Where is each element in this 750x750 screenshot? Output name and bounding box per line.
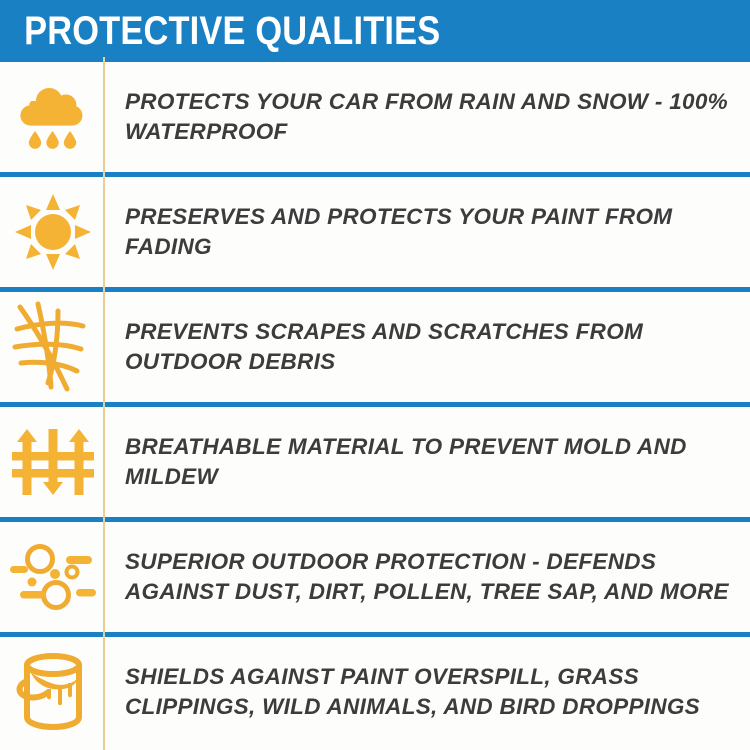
feature-list: PROTECTS YOUR CAR FROM RAIN AND SNOW - 1…	[0, 62, 750, 747]
feature-icon-cell	[0, 522, 105, 632]
feature-text: BREATHABLE MATERIAL TO PREVENT MOLD AND …	[125, 432, 738, 492]
row-separator	[0, 402, 750, 407]
feature-icon-cell	[0, 407, 105, 517]
scratch-mesh-icon	[11, 301, 95, 393]
protective-qualities-infographic: PROTECTIVE QUALITIES PROTECTS YOUR CAR F…	[0, 0, 750, 750]
feature-row: PROTECTS YOUR CAR FROM RAIN AND SNOW - 1…	[0, 62, 750, 172]
feature-text-cell: SHIELDS AGAINST PAINT OVERSPILL, GRASS C…	[105, 637, 750, 747]
feature-text-cell: BREATHABLE MATERIAL TO PREVENT MOLD AND …	[105, 407, 750, 517]
feature-text-cell: SUPERIOR OUTDOOR PROTECTION - DEFENDS AG…	[105, 522, 750, 632]
row-separator	[0, 287, 750, 292]
row-separator	[0, 517, 750, 522]
feature-row: SHIELDS AGAINST PAINT OVERSPILL, GRASS C…	[0, 637, 750, 747]
feature-row: SUPERIOR OUTDOOR PROTECTION - DEFENDS AG…	[0, 522, 750, 632]
feature-icon-cell	[0, 62, 105, 172]
rain-cloud-icon	[14, 79, 92, 155]
feature-row: PREVENTS SCRAPES AND SCRATCHES FROM OUTD…	[0, 292, 750, 402]
row-separator	[0, 632, 750, 637]
header-bar: PROTECTIVE QUALITIES	[0, 0, 750, 62]
airflow-arrows-icon	[12, 421, 94, 503]
feature-text: SHIELDS AGAINST PAINT OVERSPILL, GRASS C…	[125, 662, 738, 722]
feature-text-cell: PRESERVES AND PROTECTS YOUR PAINT FROM F…	[105, 177, 750, 287]
feature-icon-cell	[0, 292, 105, 402]
feature-row: PRESERVES AND PROTECTS YOUR PAINT FROM F…	[0, 177, 750, 287]
feature-row: BREATHABLE MATERIAL TO PREVENT MOLD AND …	[0, 407, 750, 517]
feature-icon-cell	[0, 177, 105, 287]
feature-text-cell: PROTECTS YOUR CAR FROM RAIN AND SNOW - 1…	[105, 62, 750, 172]
feature-icon-cell	[0, 637, 105, 747]
dust-particles-icon	[10, 540, 96, 614]
page-title: PROTECTIVE QUALITIES	[0, 11, 440, 51]
paint-can-icon	[13, 651, 93, 733]
feature-text: PREVENTS SCRAPES AND SCRATCHES FROM OUTD…	[125, 317, 738, 377]
row-separator	[0, 172, 750, 177]
feature-text: PROTECTS YOUR CAR FROM RAIN AND SNOW - 1…	[125, 87, 738, 147]
feature-text: PRESERVES AND PROTECTS YOUR PAINT FROM F…	[125, 202, 738, 262]
feature-text-cell: PREVENTS SCRAPES AND SCRATCHES FROM OUTD…	[105, 292, 750, 402]
feature-text: SUPERIOR OUTDOOR PROTECTION - DEFENDS AG…	[125, 547, 738, 607]
sun-icon	[13, 192, 93, 272]
